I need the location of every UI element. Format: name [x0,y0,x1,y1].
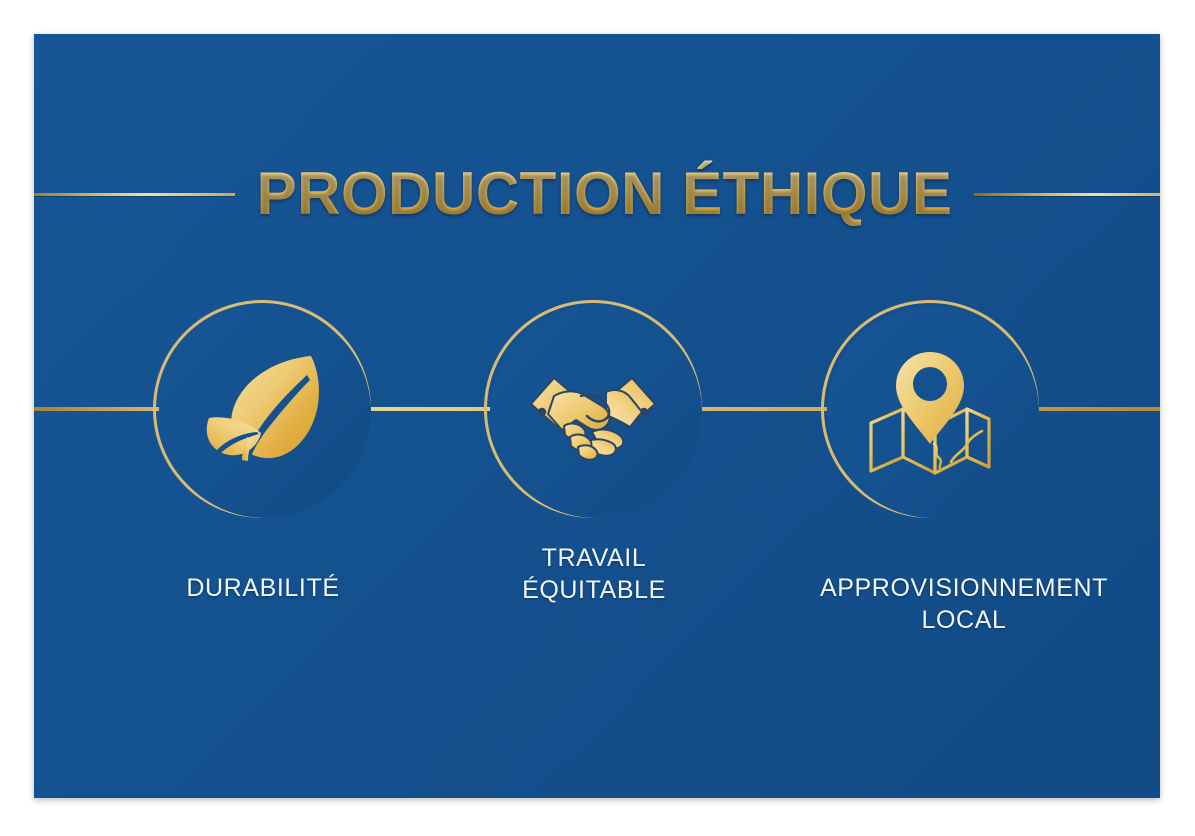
pillar-circle-approvisionnement-local[interactable] [821,300,1039,518]
blue-panel: PRODUCTION ÉTHIQUE [34,34,1160,798]
label-line: DURABILITÉ [128,572,398,604]
label-line: LOCAL [759,604,1160,636]
title-rule-right [974,193,1160,196]
pillar-label-travail-equitable: TRAVAIL ÉQUITABLE [489,542,699,606]
pillar-circle-durabilite[interactable] [153,300,371,518]
title-row: PRODUCTION ÉTHIQUE [34,152,1160,236]
leaf-icon [187,334,337,484]
map-pin-icon [855,334,1005,484]
label-line: TRAVAIL [489,542,699,574]
handshake-icon [518,334,668,484]
page-title: PRODUCTION ÉTHIQUE [257,160,953,228]
pillar-label-approvisionnement-local: APPROVISIONNEMENT LOCAL [759,572,1160,636]
pillar-label-durabilite: DURABILITÉ [128,572,398,604]
infographic-root: PRODUCTION ÉTHIQUE [0,0,1195,836]
title-rule-left [34,193,235,196]
pillar-circle-travail-equitable[interactable] [484,300,702,518]
label-line: ÉQUITABLE [489,574,699,606]
label-line: APPROVISIONNEMENT [759,572,1160,604]
